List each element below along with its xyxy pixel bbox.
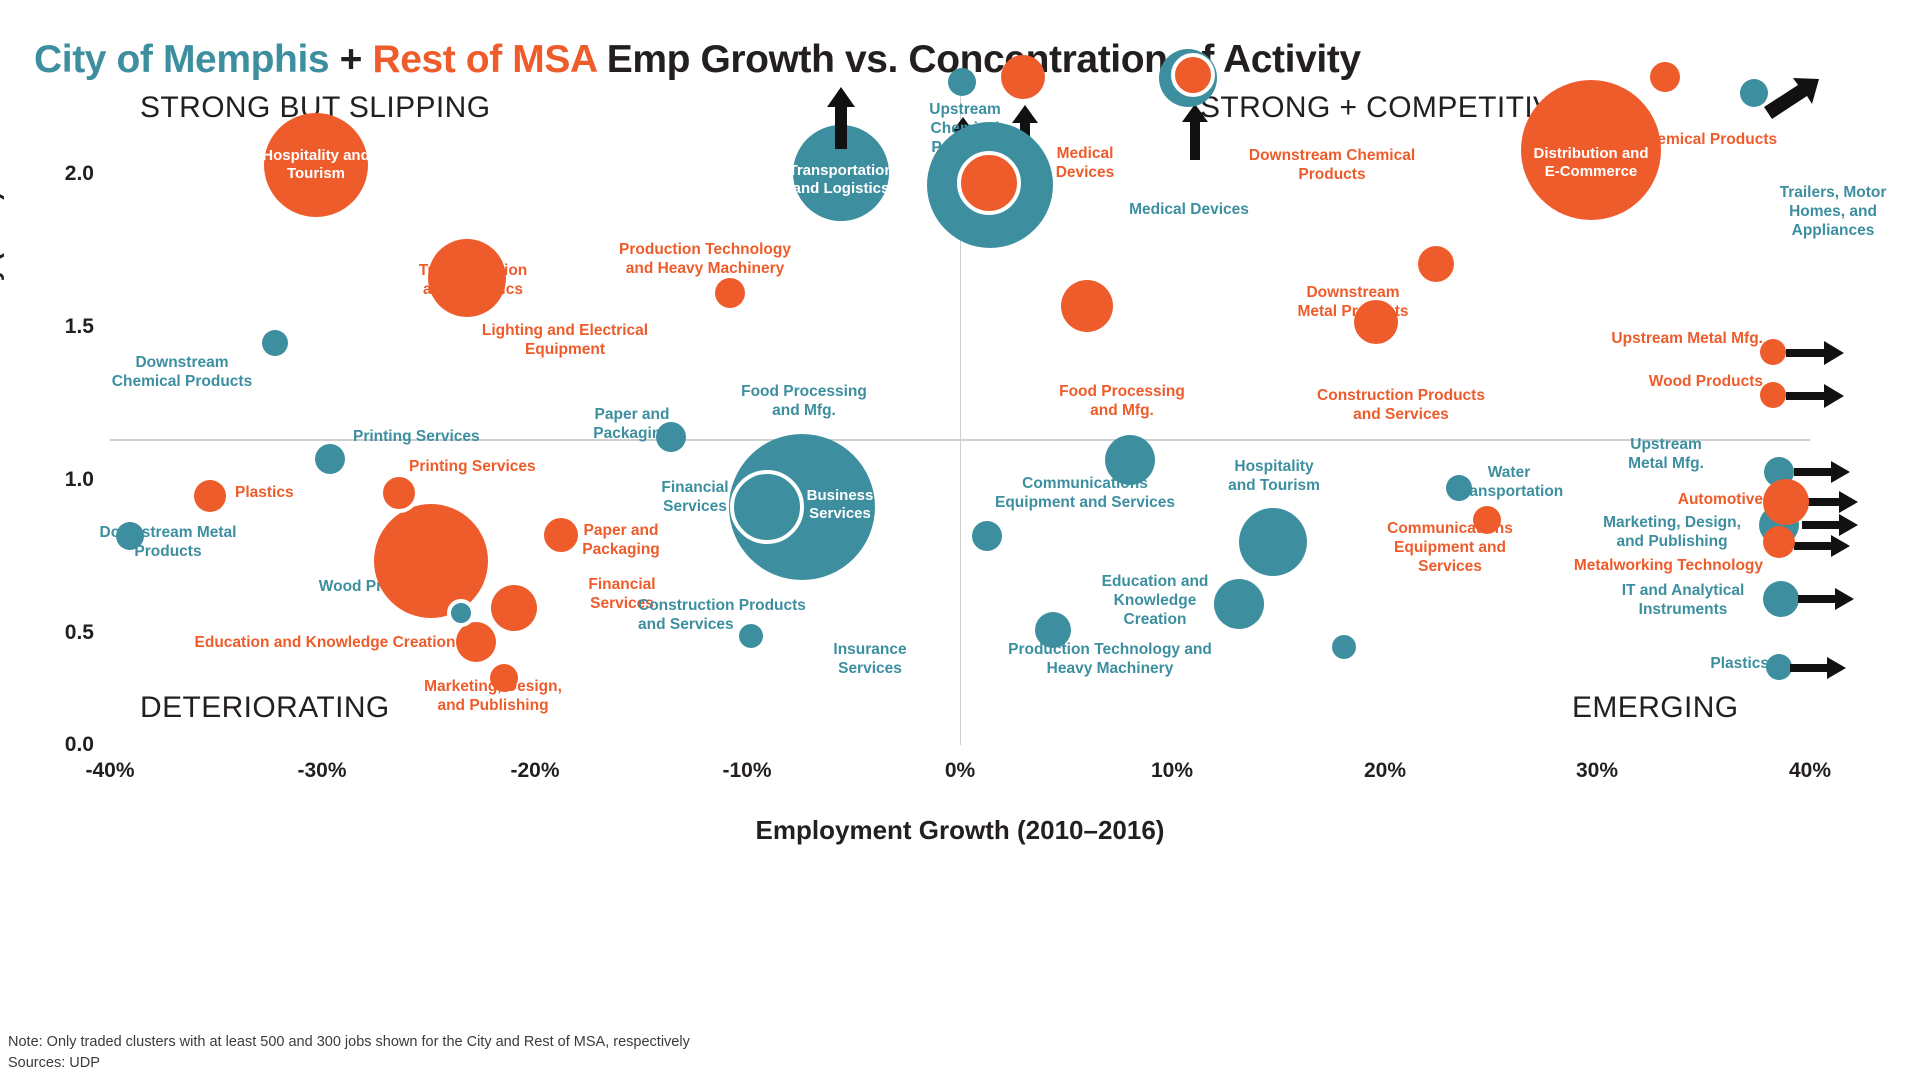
label-city-downstream-metal: Downstream MetalProducts — [100, 524, 237, 562]
label-city-water-transport: WaterTransportation — [1455, 464, 1564, 502]
label-city-it-analytical: IT and AnalyticalInstruments — [1622, 582, 1745, 620]
bubble-msa-distribution-ecommerce[interactable] — [1521, 80, 1661, 220]
label-msa-upstream-metal: Upstream Metal Mfg. — [1611, 330, 1763, 349]
y-tick-2-0: 2.0 — [65, 162, 94, 186]
right-arrow-city-upstream-metal — [1794, 461, 1850, 483]
label-msa-upstream-chemical: Upstream Chemical Products — [1561, 131, 1777, 150]
bubble-msa-printing-services[interactable] — [379, 473, 419, 513]
bubble-msa-downstream-chemical[interactable] — [1171, 53, 1215, 97]
bubble-city-wood-products[interactable] — [447, 599, 475, 627]
label-city-financial-services: FinancialServices — [661, 479, 728, 517]
bubble-msa-food-processing[interactable] — [1061, 280, 1113, 332]
right-arrow-city-it-analytical — [1798, 588, 1854, 610]
x-axis-title: Employment Growth (2010–2016) — [756, 815, 1165, 846]
x-tick-neg40: -40% — [85, 759, 134, 783]
label-msa-education: Education and Knowledge Creation — [195, 634, 456, 653]
title-city-segment: City of Memphis — [34, 38, 329, 81]
bubble-city-education-knowledge[interactable] — [1214, 579, 1264, 629]
bubble-city-business-services-inner — [730, 470, 804, 544]
title-msa-segment: Rest of MSA — [372, 38, 596, 81]
right-arrow-msa-upstream-metal — [1786, 341, 1844, 365]
bubble-msa-plastics[interactable] — [194, 480, 226, 512]
up-arrow-msa-downstream-chemical — [1181, 104, 1209, 160]
right-arrow-msa-metalworking — [1794, 535, 1850, 557]
label-msa-downstream-metal: DownstreamMetal Products — [1297, 284, 1408, 322]
label-city-insurance: InsuranceServices — [833, 641, 906, 679]
label-msa-downstream-chemical: Downstream ChemicalProducts — [1249, 147, 1415, 185]
label-city-education: Education andKnowledgeCreation — [1102, 573, 1209, 630]
x-tick-neg10: -10% — [722, 759, 771, 783]
title-rest: Emp Growth vs. Concentration of Activity — [596, 38, 1360, 81]
bubble-msa-paper-packaging[interactable] — [544, 518, 578, 552]
right-arrow-msa-automotive — [1802, 491, 1858, 513]
x-tick-0: 0% — [945, 759, 975, 783]
label-city-plastics: Plastics — [1710, 655, 1769, 674]
bubble-city-communications-equip[interactable] — [972, 521, 1002, 551]
right-arrow-city-marketing-design — [1802, 514, 1858, 536]
bubble-msa-production-technology[interactable] — [957, 151, 1021, 215]
title-plus: + — [329, 38, 372, 81]
bubble-msa-business-services[interactable] — [374, 504, 488, 618]
label-msa-printing-services: Printing Services — [409, 458, 536, 477]
bubble-city-plastics[interactable] — [1766, 654, 1792, 680]
label-city-paper-packaging: Paper andPackaging — [593, 406, 671, 444]
label-msa-wood-products: Wood Products — [1649, 373, 1763, 392]
label-city-downstream-chemical: DownstreamChemical Products — [112, 354, 252, 392]
label-msa-metalworking: Metalworking Technology — [1574, 557, 1763, 576]
bubble-msa-financial-services[interactable] — [491, 585, 537, 631]
y-tick-1-5: 1.5 — [65, 315, 94, 339]
label-city-communications: CommunicationsEquipment and Services — [995, 475, 1175, 513]
label-city-medical-devices: Medical Devices — [1129, 201, 1249, 220]
label-msa-food-processing: Food Processingand Mfg. — [1059, 383, 1185, 421]
bubble-msa-metalworking-tech[interactable] — [1763, 526, 1795, 558]
bubble-chart-plot-area: 2.0 1.5 1.0 0.5 0.0 -40% -30% -20% -10% … — [110, 95, 1810, 745]
label-msa-paper-packaging: Paper andPackaging — [582, 522, 660, 560]
label-city-hospitality: Hospitalityand Tourism — [1228, 458, 1320, 496]
label-city-production-tech: Production Technology andHeavy Machinery — [1008, 641, 1212, 679]
bubble-msa-downstream-metal[interactable] — [1418, 246, 1454, 282]
bubble-msa-automotive[interactable] — [1763, 479, 1809, 525]
quadrant-label-strong-competitive: STRONG + COMPETITIVE — [1200, 91, 1574, 125]
footnote-sources: Sources: UDP — [8, 1053, 690, 1074]
label-city-trailers: Trailers, MotorHomes, andAppliances — [1780, 184, 1887, 241]
x-tick-20: 20% — [1364, 759, 1406, 783]
label-msa-transportation: Transportationand Logistics — [419, 262, 528, 300]
label-city-marketing-design: Marketing, Design,and Publishing — [1603, 514, 1741, 552]
right-arrow-city-plastics — [1790, 657, 1846, 679]
label-city-printing-services: Printing Services — [353, 428, 480, 447]
y-tick-0-0: 0.0 — [65, 733, 94, 757]
bubble-msa-lighting-electrical[interactable] — [715, 278, 745, 308]
y-axis-title: Concentration of Activity (2016) — [0, 192, 6, 553]
quadrant-label-emerging: EMERGING — [1572, 691, 1739, 725]
label-msa-production-technology: Production Technologyand Heavy Machinery — [619, 241, 791, 279]
bubble-msa-upstream-chemical[interactable] — [1650, 62, 1680, 92]
bubble-city-upstream-chemical[interactable] — [948, 68, 976, 96]
label-msa-plastics: Plastics — [235, 484, 294, 503]
x-tick-neg30: -30% — [297, 759, 346, 783]
label-city-food-processing: Food Processingand Mfg. — [741, 383, 867, 421]
label-msa-lighting: Lighting and ElectricalEquipment — [482, 322, 648, 360]
bubble-msa-medical-devices[interactable] — [1001, 55, 1045, 99]
x-tick-30: 30% — [1576, 759, 1618, 783]
footnote-note: Note: Only traded clusters with at least… — [8, 1032, 690, 1053]
y-tick-1-0: 1.0 — [65, 468, 94, 492]
up-arrow-city-transportation — [826, 87, 856, 149]
bubble-city-hospitality-tourism[interactable] — [1239, 508, 1307, 576]
label-msa-communications: CommunicationsEquipment andServices — [1387, 520, 1513, 577]
label-msa-construction: Construction Productsand Services — [1317, 387, 1485, 425]
x-tick-40: 40% — [1789, 759, 1831, 783]
bubble-city-printing-services[interactable] — [315, 444, 345, 474]
label-city-construction: Construction Productsand Services — [638, 597, 806, 635]
right-arrow-msa-wood-products — [1786, 384, 1844, 408]
label-msa-medical-devices: MedicalDevices — [1056, 145, 1115, 183]
bubble-msa-upstream-metal-mfg[interactable] — [1760, 339, 1786, 365]
bubble-city-downstream-chemical[interactable] — [262, 330, 288, 356]
bubble-city-it-analytical[interactable] — [1763, 581, 1799, 617]
x-tick-10: 10% — [1151, 759, 1193, 783]
bubble-msa-wood-products[interactable] — [1760, 382, 1786, 408]
bubble-msa-education-knowledge[interactable] — [456, 622, 496, 662]
footnotes: Note: Only traded clusters with at least… — [8, 1032, 690, 1074]
y-tick-0-5: 0.5 — [65, 621, 94, 645]
quadrant-label-deteriorating: DETERIORATING — [140, 691, 390, 725]
bubble-msa-marketing-design[interactable] — [490, 664, 518, 692]
label-city-upstream-metal: UpstreamMetal Mfg. — [1628, 436, 1704, 474]
x-tick-neg20: -20% — [510, 759, 559, 783]
right-arrow-city-trailers — [1764, 77, 1820, 123]
label-msa-automotive: Automotive — [1678, 491, 1763, 510]
bubble-msa-hospitality-tourism[interactable] — [264, 113, 368, 217]
bubble-city-production-technology[interactable] — [1332, 635, 1356, 659]
